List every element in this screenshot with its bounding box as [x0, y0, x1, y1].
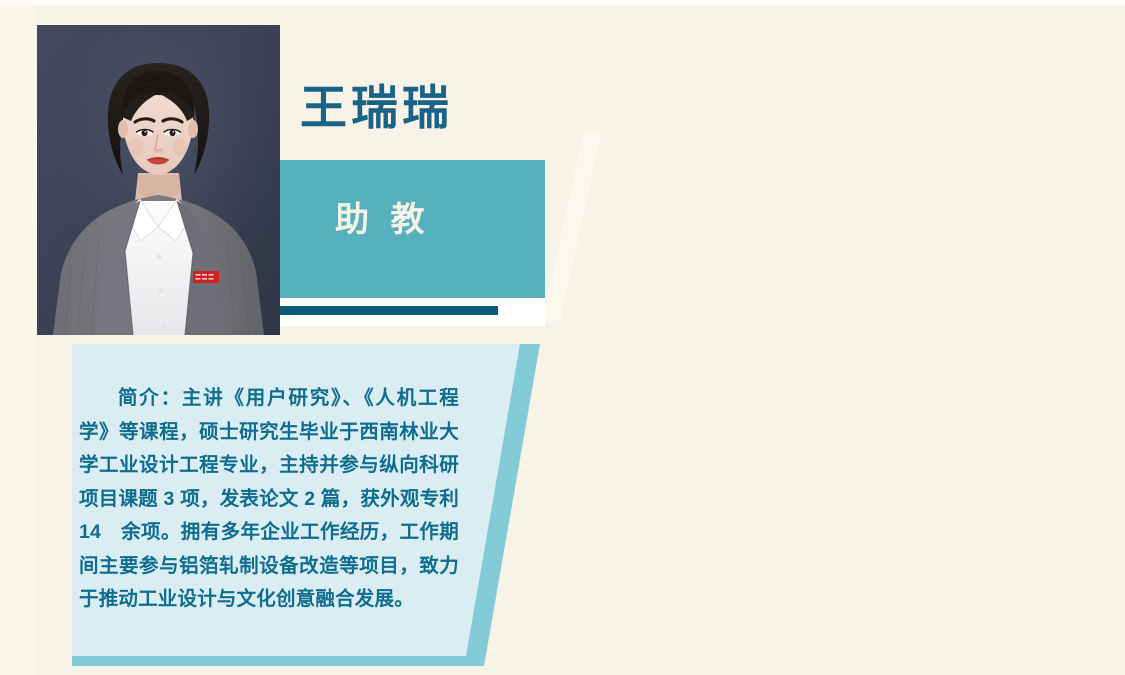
portrait-photo: [37, 25, 280, 335]
bio-paragraph: 简介：主讲《用户研究》、《人机工程学》等课程，硕士研究生毕业于西南林业大学工业设…: [79, 382, 459, 617]
left-margin-band: [0, 5, 36, 675]
under-band-dark-rule: [280, 306, 498, 315]
decorative-slant-ribbon: [540, 131, 610, 321]
profile-name: 王瑞瑞: [300, 84, 453, 131]
profile-slide: 王瑞瑞 助 教 简介：主讲《用户研究》、《人机工程学》等课程，硕士研究生毕业于西…: [0, 0, 1125, 675]
top-edge-strip: [0, 0, 1125, 5]
profile-title: 助 教: [335, 203, 430, 237]
